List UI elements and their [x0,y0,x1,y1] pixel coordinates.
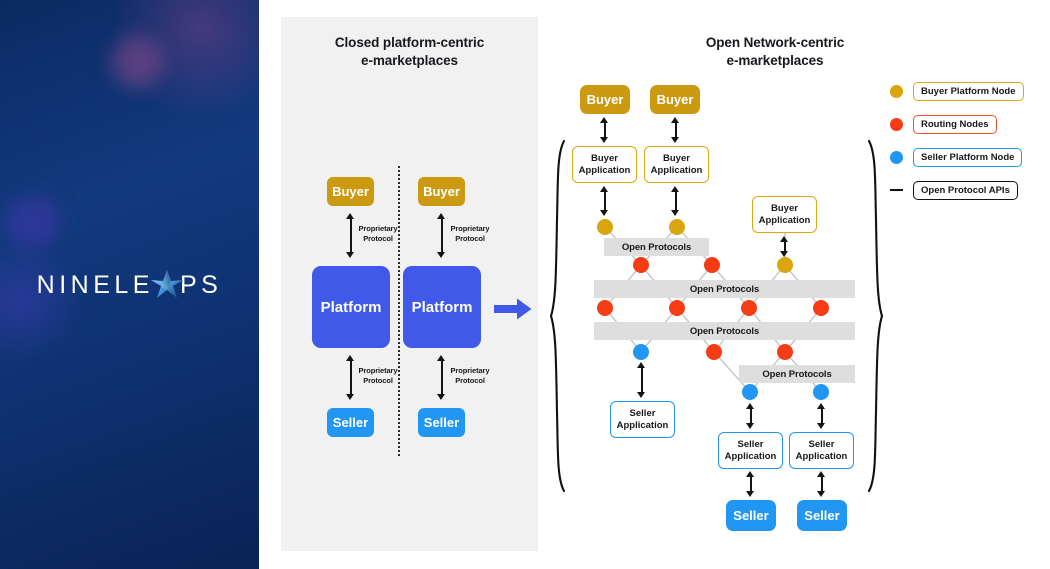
protocol-band-4: Open Protocols [739,365,855,383]
seller-application-box-3[interactable]: Seller Application [789,432,854,469]
buyer-app-line2: Application [579,165,631,177]
seller-app-line1: Seller [796,439,848,451]
seller-app-line2: Application [617,420,669,432]
left-brace [549,140,567,492]
protocol-band-3: Open Protocols [594,322,855,340]
closed-panel-title: Closed platform-centric e-marketplaces [281,34,538,69]
legend: Buyer Platform Node Routing Nodes Seller… [890,80,1045,212]
buyer-node-dot-icon [890,85,903,98]
seller-app-line2: Application [725,451,777,463]
seller-platform-node-1[interactable] [633,344,649,360]
arrow-right-icon [494,298,532,320]
decorative-blob-indigo [6,195,60,249]
buyer-platform-node-2[interactable] [669,219,685,235]
seller-app-line2: Application [796,451,848,463]
routing-node-3[interactable] [597,300,613,316]
open-panel-title-line1: Open Network-centric [640,34,910,52]
legend-item-routing-nodes[interactable]: Routing Nodes [890,113,1045,135]
closed-protocol-label-bottom-2: Proprietary Protocol [444,366,496,385]
buyer-app-line2: Application [759,215,811,227]
star-icon [150,269,184,299]
protocol-band-2: Open Protocols [594,280,855,298]
closed-buyer-box-1[interactable]: Buyer [327,177,374,206]
seller-app-line1: Seller [617,408,669,420]
arrow-buyer-to-app-2 [671,117,680,143]
closed-protocol-label-bottom-1: Proprietary Protocol [352,366,404,385]
legend-label-seller-platform-node: Seller Platform Node [913,148,1022,167]
closed-protocol-label-top-1: Proprietary Protocol [352,224,404,243]
arrow-app-to-node-1 [600,186,609,216]
protocol-line-icon [890,189,903,191]
legend-item-buyer-platform-node[interactable]: Buyer Platform Node [890,80,1045,102]
arrow-buyer-to-app-1 [600,117,609,143]
closed-buyer-box-2[interactable]: Buyer [418,177,465,206]
buyer-application-box-2[interactable]: Buyer Application [644,146,709,183]
arrow-app-to-node-3 [780,236,789,257]
legend-label-routing-nodes: Routing Nodes [913,115,997,134]
seller-application-box-2[interactable]: Seller Application [718,432,783,469]
closed-platform-box-1[interactable]: Platform [312,266,390,348]
routing-node-8[interactable] [777,344,793,360]
buyer-platform-node-1[interactable] [597,219,613,235]
protocol-line1: Proprietary [444,224,496,234]
seller-app-line1: Seller [725,439,777,451]
arrow-app-to-node-2 [671,186,680,216]
protocol-line1: Proprietary [352,224,404,234]
arrow-node-to-seller-app-2 [746,403,755,429]
protocol-line2: Protocol [352,234,404,244]
buyer-app-line1: Buyer [579,153,631,165]
brand-name-part2: PS [180,271,222,300]
closed-panel-divider [398,166,400,456]
closed-panel-title-line1: Closed platform-centric [281,34,538,52]
routing-node-4[interactable] [669,300,685,316]
legend-label-open-protocol-apis: Open Protocol APIs [913,181,1018,200]
legend-label-buyer-platform-node: Buyer Platform Node [913,82,1024,101]
routing-node-2[interactable] [704,257,720,273]
buyer-platform-node-3[interactable] [777,257,793,273]
closed-panel-title-line2: e-marketplaces [281,52,538,70]
protocol-line1: Proprietary [352,366,404,376]
decorative-blob-purple [111,36,163,88]
seller-platform-node-3[interactable] [813,384,829,400]
open-panel-title-line2: e-marketplaces [640,52,910,70]
routing-node-dot-icon [890,118,903,131]
routing-node-7[interactable] [706,344,722,360]
protocol-line1: Proprietary [444,366,496,376]
arrow-node-to-seller-app-1 [637,362,646,398]
closed-seller-box-2[interactable]: Seller [418,408,465,437]
buyer-app-line1: Buyer [651,153,703,165]
arrow-seller-app-to-seller-1 [746,471,755,497]
arrow-node-to-seller-app-3 [817,403,826,429]
seller-node-dot-icon [890,151,903,164]
routing-node-1[interactable] [633,257,649,273]
open-buyer-box-1[interactable]: Buyer [580,85,630,114]
closed-protocol-label-top-2: Proprietary Protocol [444,224,496,243]
routing-node-5[interactable] [741,300,757,316]
protocol-line2: Protocol [444,376,496,386]
protocol-band-1: Open Protocols [604,238,709,256]
protocol-line2: Protocol [444,234,496,244]
open-buyer-box-2[interactable]: Buyer [650,85,700,114]
routing-node-6[interactable] [813,300,829,316]
buyer-application-box-1[interactable]: Buyer Application [572,146,637,183]
arrow-seller-app-to-seller-2 [817,471,826,497]
open-seller-box-1[interactable]: Seller [726,500,776,531]
legend-item-seller-platform-node[interactable]: Seller Platform Node [890,146,1045,168]
legend-item-open-protocol-apis[interactable]: Open Protocol APIs [890,179,1045,201]
brand-name-part1: NINELE [37,271,154,300]
seller-application-box-1[interactable]: Seller Application [610,401,675,438]
buyer-application-box-3[interactable]: Buyer Application [752,196,817,233]
seller-platform-node-2[interactable] [742,384,758,400]
right-brace [866,140,884,492]
buyer-app-line2: Application [651,165,703,177]
open-panel-title: Open Network-centric e-marketplaces [640,34,910,69]
brand-panel: NINELE [0,0,259,569]
buyer-app-line1: Buyer [759,203,811,215]
closed-platform-box-2[interactable]: Platform [403,266,481,348]
open-seller-box-2[interactable]: Seller [797,500,847,531]
brand-logo: NINELE [0,265,259,305]
protocol-line2: Protocol [352,376,404,386]
closed-seller-box-1[interactable]: Seller [327,408,374,437]
